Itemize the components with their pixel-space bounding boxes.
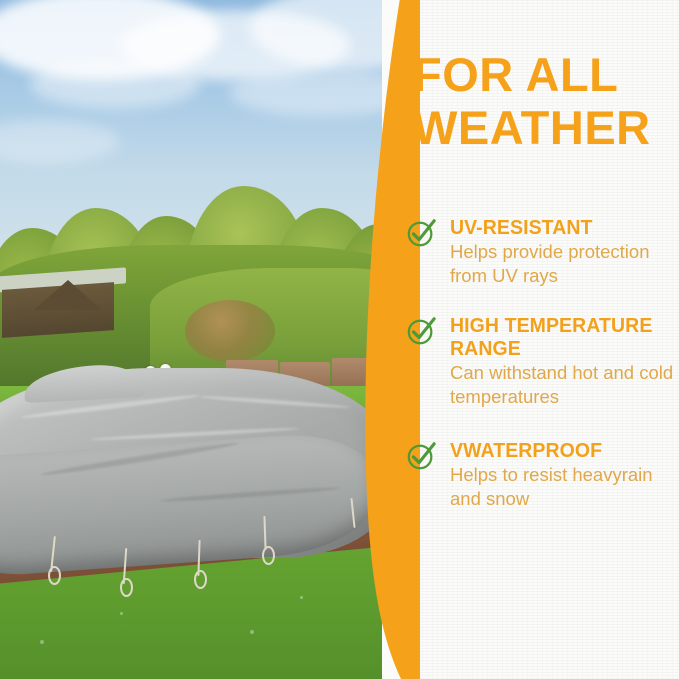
- feature-title: HIGH TEMPERATURE RANGE: [450, 314, 668, 360]
- headline-line-1: FOR ALL: [413, 48, 679, 101]
- feature-text: VWATERPROOF Helps to resist heavyrain an…: [450, 439, 679, 511]
- feature-item-high-temperature-range: HIGH TEMPERATURE RANGE Can withstand hot…: [406, 314, 679, 409]
- product-banner: FOR ALL WEATHER UV-RESISTANT Helps provi…: [0, 0, 679, 679]
- feature-item-waterproof: VWATERPROOF Helps to resist heavyrain an…: [406, 439, 679, 511]
- feature-list: UV-RESISTANT Helps provide protection fr…: [406, 216, 679, 537]
- feature-text: HIGH TEMPERATURE RANGE Can withstand hot…: [450, 314, 679, 409]
- feature-item-uv-resistant: UV-RESISTANT Helps provide protection fr…: [406, 216, 679, 288]
- daisy: [250, 630, 254, 634]
- feature-description: Helps to resist heavyrain and snow: [450, 463, 679, 511]
- daisy: [120, 612, 123, 615]
- check-circle-icon: [406, 218, 436, 248]
- check-circle-icon: [406, 316, 436, 346]
- check-circle-icon: [406, 441, 436, 471]
- feature-text: UV-RESISTANT Helps provide protection fr…: [450, 216, 679, 288]
- tie-down-loop: [120, 578, 133, 597]
- daisy: [300, 596, 303, 599]
- tie-down-loop: [262, 546, 275, 565]
- shed-gable: [34, 280, 102, 310]
- flowering-bush: [185, 300, 275, 362]
- feature-description: Can withstand hot and cold temperatures: [450, 361, 679, 409]
- garden-shed: [0, 272, 126, 338]
- feature-title: UV-RESISTANT: [450, 216, 668, 239]
- page-title: FOR ALL WEATHER: [413, 48, 679, 154]
- headline-line-2: WEATHER: [413, 101, 679, 154]
- feature-panel: FOR ALL WEATHER UV-RESISTANT Helps provi…: [382, 0, 679, 679]
- product-photo: [0, 0, 410, 679]
- daisy: [40, 640, 44, 644]
- panel-content: FOR ALL WEATHER UV-RESISTANT Helps provi…: [382, 0, 679, 679]
- cloud: [30, 60, 200, 108]
- feature-title: VWATERPROOF: [450, 439, 668, 462]
- tie-down-loop: [194, 570, 207, 589]
- tie-down-loop: [48, 566, 61, 585]
- feature-description: Helps provide protection from UV rays: [450, 240, 679, 288]
